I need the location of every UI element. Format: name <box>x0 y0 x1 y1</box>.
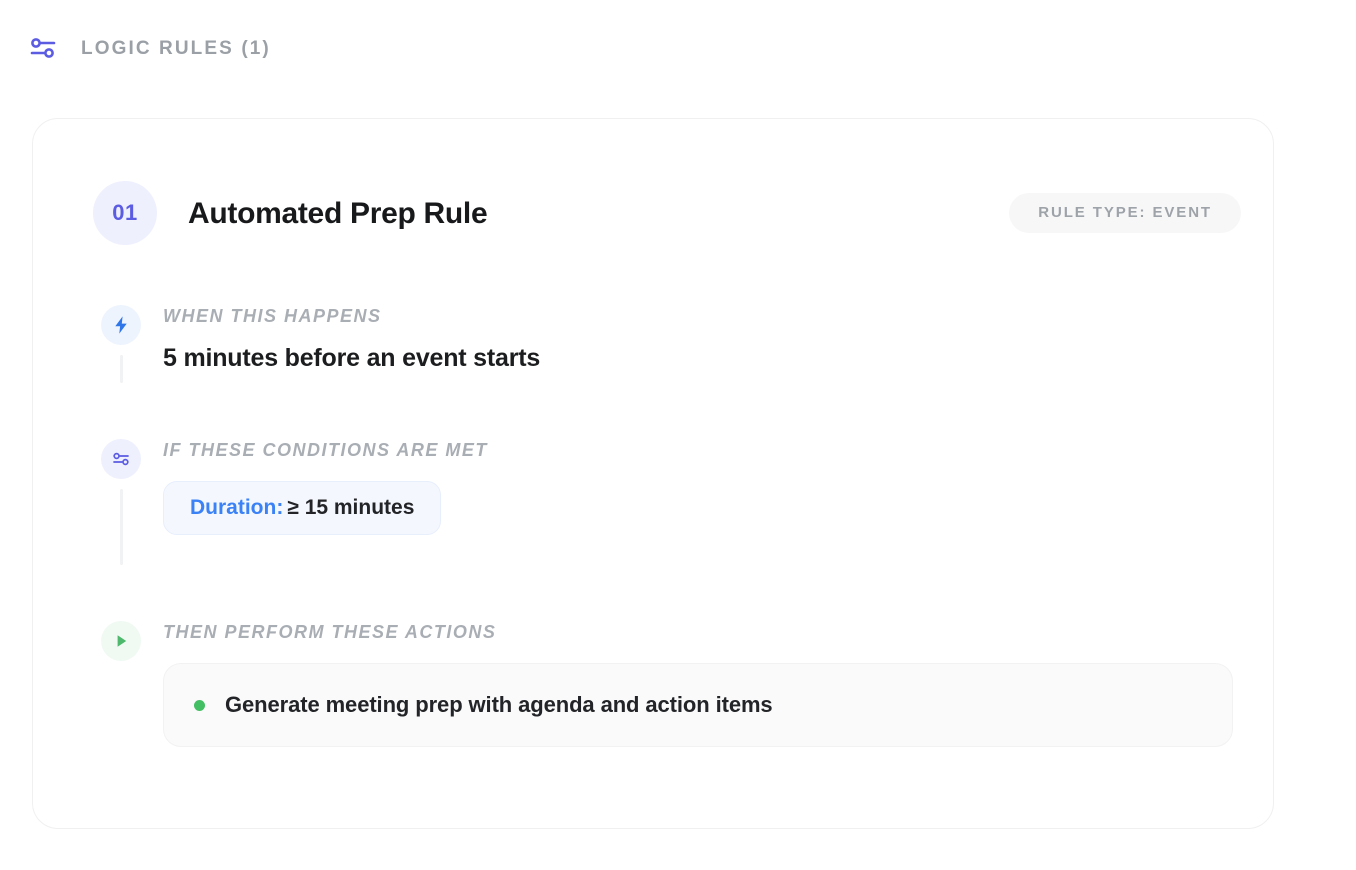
step-body-actions: THEN PERFORM THESE ACTIONS Generate meet… <box>163 621 1233 747</box>
condition-chip[interactable]: Duration:≥ 15 minutes <box>163 481 441 535</box>
rule-card-header: 01 Automated Prep Rule RULE TYPE: EVENT <box>93 181 1241 245</box>
step-label-actions: THEN PERFORM THESE ACTIONS <box>163 623 1233 641</box>
rule-type-badge: RULE TYPE: EVENT <box>1009 193 1241 233</box>
spacer <box>101 383 1233 439</box>
section-header: LOGIC RULES (1) <box>28 28 271 68</box>
rule-steps: WHEN THIS HAPPENS 5 minutes before an ev… <box>101 305 1233 747</box>
lightning-bolt-icon <box>101 305 141 345</box>
play-icon <box>101 621 141 661</box>
rule-step-trigger: WHEN THIS HAPPENS 5 minutes before an ev… <box>101 305 1233 383</box>
condition-list: Duration:≥ 15 minutes <box>163 481 1233 535</box>
step-rail-trigger <box>101 305 141 383</box>
step-connector-line <box>120 489 123 565</box>
step-body-trigger: WHEN THIS HAPPENS 5 minutes before an ev… <box>163 305 1233 373</box>
step-body-conditions: IF THESE CONDITIONS ARE MET Duration:≥ 1… <box>163 439 1233 535</box>
logic-rules-page: LOGIC RULES (1) 01 Automated Prep Rule R… <box>0 0 1356 870</box>
rule-card[interactable]: 01 Automated Prep Rule RULE TYPE: EVENT … <box>32 118 1274 829</box>
sliders-icon <box>101 439 141 479</box>
step-label-trigger: WHEN THIS HAPPENS <box>163 307 1233 325</box>
sliders-icon <box>28 33 58 63</box>
action-item[interactable]: Generate meeting prep with agenda and ac… <box>163 663 1233 747</box>
rule-number-badge: 01 <box>93 181 157 245</box>
action-text: Generate meeting prep with agenda and ac… <box>225 692 773 718</box>
spacer <box>101 565 1233 621</box>
step-connector-line <box>120 355 123 383</box>
rule-step-conditions: IF THESE CONDITIONS ARE MET Duration:≥ 1… <box>101 439 1233 565</box>
step-label-conditions: IF THESE CONDITIONS ARE MET <box>163 441 1233 459</box>
rule-title: Automated Prep Rule <box>188 197 487 230</box>
condition-key: Duration: <box>190 496 283 519</box>
trigger-text: 5 minutes before an event starts <box>163 344 1233 373</box>
step-rail-conditions <box>101 439 141 565</box>
rule-step-actions: THEN PERFORM THESE ACTIONS Generate meet… <box>101 621 1233 747</box>
section-title: LOGIC RULES (1) <box>81 39 271 58</box>
action-list: Generate meeting prep with agenda and ac… <box>163 663 1233 747</box>
step-rail-actions <box>101 621 141 661</box>
status-dot-icon <box>194 700 205 711</box>
condition-value: ≥ 15 minutes <box>287 496 414 519</box>
